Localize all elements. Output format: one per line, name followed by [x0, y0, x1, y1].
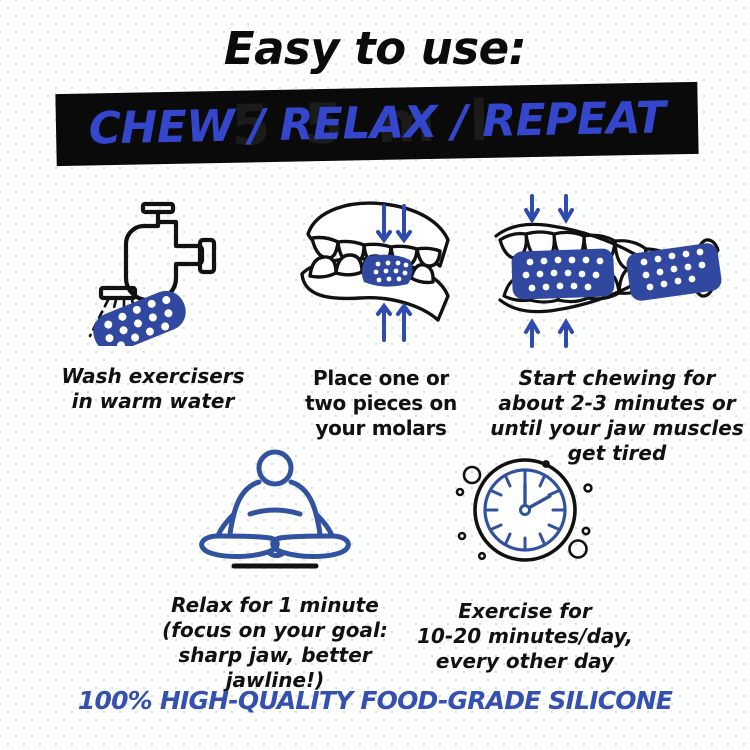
teeth-chewing-pads-icon	[488, 190, 746, 354]
step-caption: Wash exercisers in warm water	[38, 364, 268, 414]
step-place: Place one or two pieces on your molars	[272, 192, 490, 441]
banner-headline: CHEW / RELAX / REPEAT	[55, 82, 698, 166]
faucet-washing-icon	[38, 196, 268, 350]
step-schedule: Exercise for 10-20 minutes/day, every ot…	[400, 448, 650, 674]
open-jaw-with-piece-icon	[272, 192, 490, 356]
step-relax: Relax for 1 minute (focus on your goal: …	[140, 448, 410, 693]
meditating-person-icon	[140, 448, 410, 577]
step-caption: Relax for 1 minute (focus on your goal: …	[140, 593, 410, 693]
step-chew: Start chewing for about 2-3 minutes or u…	[488, 190, 746, 466]
infographic-page: Easy to use: 55ml CHEW / RELAX / REPEAT	[0, 0, 750, 750]
page-title: Easy to use:	[0, 22, 750, 75]
step-caption: Place one or two pieces on your molars	[272, 366, 490, 441]
clock-icon	[400, 448, 650, 577]
step-caption: Exercise for 10-20 minutes/day, every ot…	[400, 599, 650, 674]
banner: 55ml CHEW / RELAX / REPEAT	[55, 82, 698, 166]
step-wash: Wash exercisers in warm water	[38, 196, 268, 414]
footer-text: 100% HIGH-QUALITY FOOD-GRADE SILICONE	[0, 686, 750, 715]
